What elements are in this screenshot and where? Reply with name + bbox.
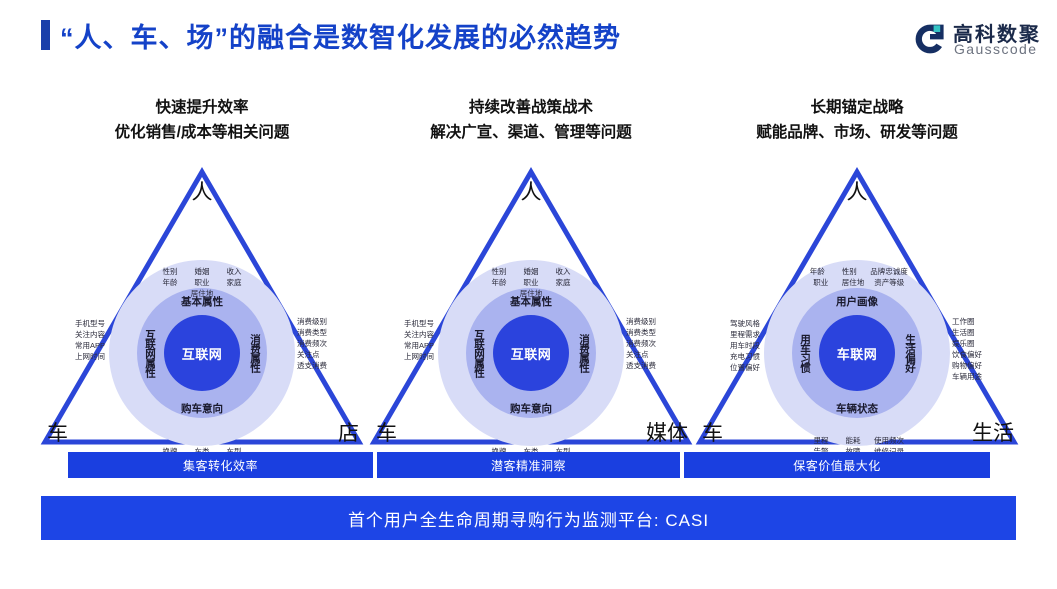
satellite-item: 里程 (810, 435, 832, 446)
ring-center-label: 互联网 (493, 315, 569, 391)
satellite-item: 消费频次 (626, 338, 656, 349)
band-label-1: 集客转化效率 (68, 452, 373, 478)
satellite-item: 职业 (810, 277, 832, 288)
band-label-2: 潜客精准洞察 (377, 452, 680, 478)
satellite-item: 充电习惯 (730, 351, 760, 362)
satellite-item: 年龄 (806, 266, 828, 277)
heading-line-1: 长期锚定战略 (692, 95, 1022, 120)
band-text: 保客价值最大化 (793, 457, 881, 474)
satellite-item: 手机型号 (75, 318, 105, 329)
satellite-item: 用车时段 (730, 340, 760, 351)
satellite-labels-top: 性别婚姻收入年龄职业家庭居住地 (154, 266, 250, 299)
triangle-corner-top: 人 (192, 182, 213, 203)
heading-line-2: 优化销售/成本等相关问题 (37, 120, 367, 145)
column-heading-2: 持续改善战策战术 解决广宣、渠道、管理等问题 (366, 95, 696, 145)
ring-label-right: 消费属性 (248, 334, 263, 372)
band-text: 集客转化效率 (183, 457, 258, 474)
triangle-diagram-1: 人 车 店 互联网 基本属性 购车意向 互联网属性 消费属性 性别婚姻收入年龄职… (37, 160, 367, 450)
satellite-item: 购物偏好 (952, 360, 982, 371)
satellite-labels-top: 性别婚姻收入年龄职业家庭居住地 (483, 266, 579, 299)
satellite-row: 年龄性别品牌忠诚度 (801, 266, 913, 277)
satellite-item: 上网时间 (75, 351, 105, 362)
brand-logo: 高科数聚 Gausscode (913, 18, 1045, 62)
satellite-item: 车辆用途 (952, 371, 982, 382)
band-text: 潜客精准洞察 (491, 457, 566, 474)
satellite-item: 性别 (488, 266, 510, 277)
satellite-row: 性别婚姻收入 (483, 266, 579, 277)
ring-label-bottom: 购车意向 (510, 401, 552, 416)
satellite-item: 居住地 (842, 277, 865, 288)
ring-label-left: 用车习惯 (798, 334, 813, 372)
satellite-labels-left: 驾驶风格里程需求用车时段充电习惯位置偏好 (730, 318, 760, 373)
satellite-labels-right: 消费级别消费类型消费频次关注点透支消费 (626, 316, 656, 371)
satellite-item: 消费级别 (297, 316, 327, 327)
satellite-labels-right: 消费级别消费类型消费频次关注点透支消费 (297, 316, 327, 371)
satellite-item: 职业 (520, 277, 542, 288)
satellite-item: 年龄 (159, 277, 181, 288)
satellite-item: 工作圈 (952, 316, 982, 327)
concentric-rings: 车联网 用户画像 车辆状态 用车习惯 生活偏好 年龄性别品牌忠诚度职业居住地资产… (764, 260, 950, 446)
satellite-item: 资产等级 (874, 277, 904, 288)
satellite-item: 关注点 (297, 349, 327, 360)
satellite-item: 关注点 (626, 349, 656, 360)
satellite-item: 消费类型 (626, 327, 656, 338)
satellite-row: 年龄职业家庭 (154, 277, 250, 288)
satellite-item: 居住地 (191, 288, 214, 299)
heading-line-1: 持续改善战策战术 (366, 95, 696, 120)
satellite-item: 收入 (552, 266, 574, 277)
ring-label-bottom: 车辆状态 (836, 401, 878, 416)
satellite-item: 家庭 (552, 277, 574, 288)
satellite-labels-right: 工作圈生活圈娱乐圈饮食偏好购物偏好车辆用途 (952, 316, 982, 382)
triangle-corner-right: 媒体 (646, 423, 688, 444)
triangle-corner-left: 车 (47, 423, 68, 444)
satellite-item: 驾驶风格 (730, 318, 760, 329)
triangle-diagram-3: 人 车 生活 车联网 用户画像 车辆状态 用车习惯 生活偏好 年龄性别品牌忠诚度… (692, 160, 1022, 450)
satellite-labels-left: 手机型号关注内容常用APP上网时间 (75, 318, 105, 362)
triangle-diagram-2: 人 车 媒体 互联网 基本属性 购车意向 互联网属性 消费属性 性别婚姻收入年龄… (366, 160, 696, 450)
satellite-labels-top: 年龄性别品牌忠诚度职业居住地资产等级 (801, 266, 913, 288)
column-heading-1: 快速提升效率 优化销售/成本等相关问题 (37, 95, 367, 145)
satellite-item: 性别 (159, 266, 181, 277)
ring-label-right: 消费属性 (577, 334, 592, 372)
heading-line-2: 解决广宣、渠道、管理等问题 (366, 120, 696, 145)
ring-label-left: 互联网属性 (143, 329, 158, 377)
footer-banner-text: 首个用户全生命周期寻购行为监测平台: CASI (348, 506, 709, 531)
satellite-row: 年龄职业家庭 (483, 277, 579, 288)
satellite-item: 消费频次 (297, 338, 327, 349)
page-title: “人、车、场”的融合是数智化发展的必然趋势 (60, 16, 621, 55)
heading-line-1: 快速提升效率 (37, 95, 367, 120)
satellite-item: 常用APP (404, 340, 434, 351)
page-header: “人、车、场”的融合是数智化发展的必然趋势 高科数聚 Gausscode (0, 0, 1057, 72)
concentric-rings: 互联网 基本属性 购车意向 互联网属性 消费属性 性别婚姻收入年龄职业家庭居住地… (438, 260, 624, 446)
triangle-corner-left: 车 (702, 423, 723, 444)
satellite-item: 常用APP (75, 340, 105, 351)
satellite-item: 家庭 (223, 277, 245, 288)
logo-mark-icon (913, 22, 947, 56)
satellite-item: 里程需求 (730, 329, 760, 340)
satellite-item: 消费级别 (626, 316, 656, 327)
satellite-item: 性别 (838, 266, 860, 277)
satellite-labels-left: 手机型号关注内容常用APP上网时间 (404, 318, 434, 362)
triangle-corner-right: 店 (338, 423, 359, 444)
footer-banner: 首个用户全生命周期寻购行为监测平台: CASI (41, 496, 1016, 540)
satellite-item: 婚姻 (520, 266, 542, 277)
satellite-item: 饮食偏好 (952, 349, 982, 360)
satellite-row: 性别婚姻收入 (154, 266, 250, 277)
satellite-item: 生活圈 (952, 327, 982, 338)
ring-center-label: 互联网 (164, 315, 240, 391)
triangle-corner-top: 人 (521, 182, 542, 203)
band-label-3: 保客价值最大化 (684, 452, 990, 478)
satellite-row: 居住地 (154, 288, 250, 299)
satellite-row: 职业居住地资产等级 (801, 277, 913, 288)
ring-label-right: 生活偏好 (903, 334, 918, 372)
concentric-rings: 互联网 基本属性 购车意向 互联网属性 消费属性 性别婚姻收入年龄职业家庭居住地… (109, 260, 295, 446)
satellite-item: 透支消费 (297, 360, 327, 371)
ring-label-left: 互联网属性 (472, 329, 487, 377)
satellite-item: 能耗 (842, 435, 864, 446)
satellite-item: 娱乐圈 (952, 338, 982, 349)
triangle-corner-right: 生活 (972, 423, 1014, 444)
satellite-item: 婚姻 (191, 266, 213, 277)
satellite-item: 关注内容 (404, 329, 434, 340)
ring-label-top: 用户画像 (836, 294, 878, 309)
satellite-row: 里程能耗使用频次 (805, 435, 909, 446)
satellite-item: 位置偏好 (730, 362, 760, 373)
satellite-item: 关注内容 (75, 329, 105, 340)
logo-text-en: Gausscode (954, 41, 1037, 57)
heading-line-2: 赋能品牌、市场、研发等问题 (692, 120, 1022, 145)
ring-label-bottom: 购车意向 (181, 401, 223, 416)
satellite-item: 职业 (191, 277, 213, 288)
column-heading-3: 长期锚定战略 赋能品牌、市场、研发等问题 (692, 95, 1022, 145)
title-accent-bar (41, 20, 50, 50)
satellite-item: 居住地 (520, 288, 543, 299)
satellite-item: 透支消费 (626, 360, 656, 371)
satellite-row: 居住地 (483, 288, 579, 299)
satellite-item: 收入 (223, 266, 245, 277)
satellite-item: 手机型号 (404, 318, 434, 329)
satellite-item: 上网时间 (404, 351, 434, 362)
triangle-corner-left: 车 (376, 423, 397, 444)
satellite-item: 使用频次 (874, 435, 904, 446)
triangle-corner-top: 人 (847, 182, 868, 203)
satellite-item: 消费类型 (297, 327, 327, 338)
ring-center-label: 车联网 (819, 315, 895, 391)
satellite-item: 品牌忠诚度 (870, 266, 908, 277)
satellite-item: 年龄 (488, 277, 510, 288)
